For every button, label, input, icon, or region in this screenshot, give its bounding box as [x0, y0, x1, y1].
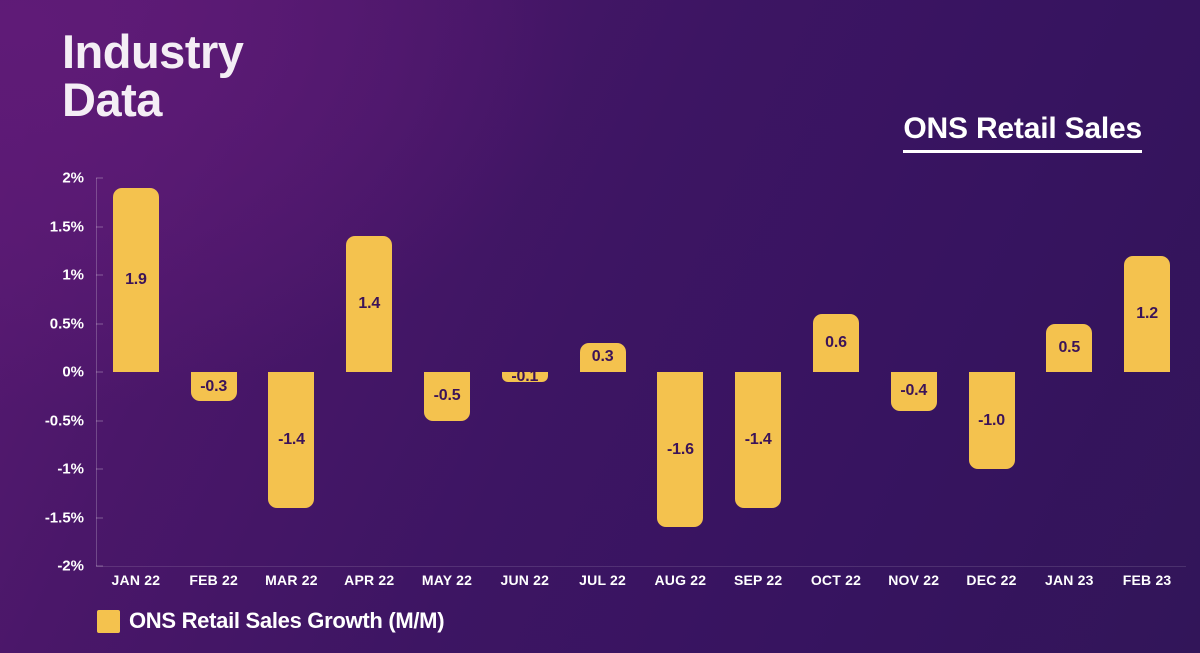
x-axis-line: [96, 566, 1186, 567]
legend-color-swatch: [97, 610, 120, 633]
y-axis-tick-mark: [96, 178, 103, 179]
bar-column[interactable]: -1.4: [719, 178, 797, 566]
x-axis-tick-label: JUL 22: [579, 572, 626, 588]
bar-value-label: 0.3: [592, 348, 614, 366]
bar-value-label: -1.0: [978, 412, 1005, 430]
page-title: Industry Data: [62, 28, 243, 124]
x-axis-tick-label: JAN 23: [1045, 572, 1094, 588]
bar-column[interactable]: 0.3: [564, 178, 642, 566]
x-axis-tick-label: MAR 22: [265, 572, 318, 588]
bar-column[interactable]: 1.9: [97, 178, 175, 566]
bar-value-label: 0.6: [825, 334, 847, 352]
bar-value-label: -0.1: [511, 368, 538, 386]
slide-canvas: Industry Data ONS Retail Sales 2%1.5%1%0…: [0, 0, 1200, 653]
y-axis-tick-label: 0.5%: [50, 315, 84, 332]
legend-label: ONS Retail Sales Growth (M/M): [129, 608, 444, 634]
bar-column[interactable]: 1.4: [330, 178, 408, 566]
bar-column[interactable]: -0.5: [408, 178, 486, 566]
y-axis-tick-label: -1%: [57, 461, 84, 478]
y-axis: 2%1.5%1%0.5%0%-0.5%-1%-1.5%-2%: [0, 178, 96, 566]
y-axis-tick-label: -0.5%: [45, 412, 84, 429]
x-axis-tick-label: FEB 22: [189, 572, 238, 588]
x-axis: JAN 22FEB 22MAR 22APR 22MAY 22JUN 22JUL …: [97, 572, 1186, 600]
bar-column[interactable]: 0.6: [797, 178, 875, 566]
bar-value-label: -0.4: [900, 382, 927, 400]
plot-area: 1.9-0.3-1.41.4-0.5-0.10.3-1.6-1.40.6-0.4…: [97, 178, 1186, 566]
y-axis-tick-mark: [96, 517, 103, 518]
bar-column[interactable]: 0.5: [1030, 178, 1108, 566]
bar-column[interactable]: -0.3: [175, 178, 253, 566]
x-axis-tick-label: SEP 22: [734, 572, 782, 588]
y-axis-tick-label: -1.5%: [45, 509, 84, 526]
chart-legend: ONS Retail Sales Growth (M/M): [97, 608, 444, 634]
y-axis-tick-label: 1.5%: [50, 218, 84, 235]
x-axis-tick-label: AUG 22: [655, 572, 707, 588]
chart-source-heading: ONS Retail Sales: [903, 112, 1142, 153]
bar-value-label: -1.4: [278, 431, 305, 449]
y-axis-tick-label: 2%: [62, 170, 84, 187]
x-axis-tick-label: DEC 22: [966, 572, 1016, 588]
y-axis-tick-mark: [96, 469, 103, 470]
y-axis-tick-mark: [96, 566, 103, 567]
bar-column[interactable]: -1.4: [253, 178, 331, 566]
x-axis-tick-label: OCT 22: [811, 572, 861, 588]
bar-column[interactable]: 1.2: [1108, 178, 1186, 566]
y-axis-tick-mark: [96, 323, 103, 324]
bar-column[interactable]: -1.6: [642, 178, 720, 566]
bar-value-label: -1.4: [745, 431, 772, 449]
bar-value-label: 1.4: [358, 295, 380, 313]
x-axis-tick-label: NOV 22: [888, 572, 939, 588]
x-axis-tick-label: MAY 22: [422, 572, 472, 588]
bar-column[interactable]: -0.4: [875, 178, 953, 566]
y-axis-tick-label: -2%: [57, 558, 84, 575]
y-axis-tick-mark: [96, 420, 103, 421]
x-axis-tick-label: FEB 23: [1123, 572, 1172, 588]
y-axis-tick-label: 1%: [62, 267, 84, 284]
y-axis-tick-mark: [96, 372, 103, 373]
bar-column[interactable]: -1.0: [953, 178, 1031, 566]
x-axis-tick-label: JAN 22: [112, 572, 161, 588]
y-axis-tick-label: 0%: [62, 364, 84, 381]
y-axis-tick-mark: [96, 226, 103, 227]
bar-value-label: -0.5: [434, 387, 461, 405]
x-axis-tick-label: JUN 22: [500, 572, 549, 588]
x-axis-tick-label: APR 22: [344, 572, 394, 588]
y-axis-tick-mark: [96, 275, 103, 276]
bar-column[interactable]: -0.1: [486, 178, 564, 566]
bar-value-label: 1.9: [125, 271, 147, 289]
bar-value-label: 0.5: [1058, 339, 1080, 357]
bar-value-label: -0.3: [200, 378, 227, 396]
bar-value-label: -1.6: [667, 441, 694, 459]
bar-chart: 2%1.5%1%0.5%0%-0.5%-1%-1.5%-2% 1.9-0.3-1…: [0, 178, 1200, 578]
bar-value-label: 1.2: [1136, 305, 1158, 323]
